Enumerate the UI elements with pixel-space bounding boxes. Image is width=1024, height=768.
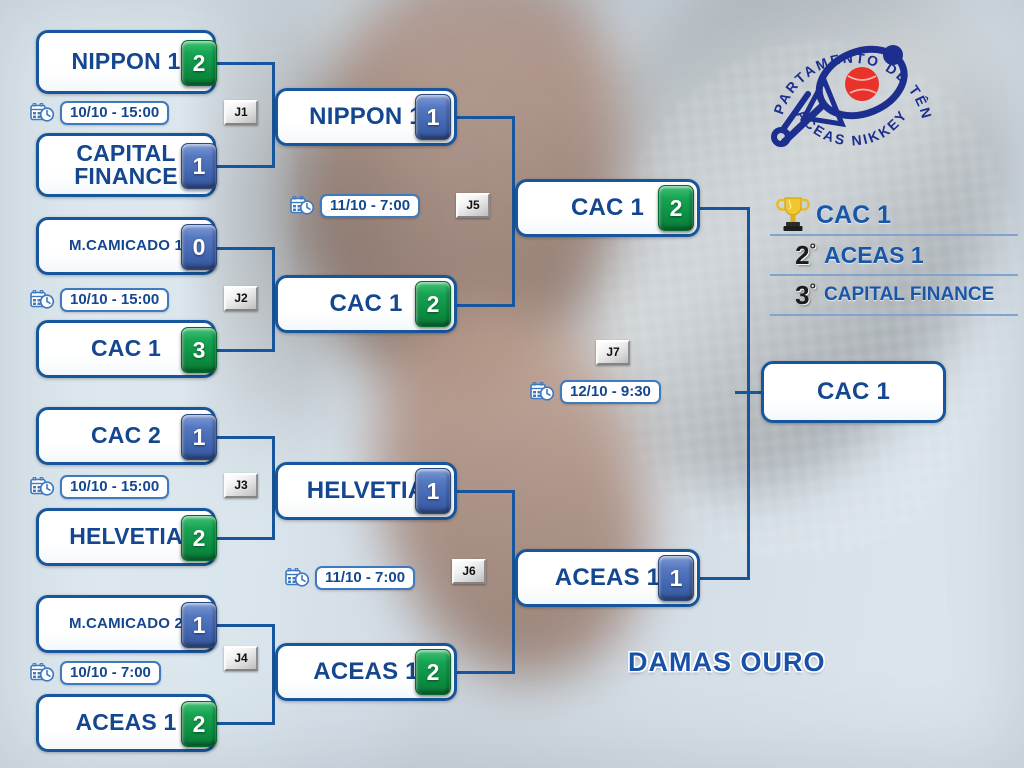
date-value: 10/10 - 15:00 <box>60 475 169 499</box>
club-logo: DEPARTAMENTO DE TÊNIS ACEAS NIKKEY <box>762 6 942 186</box>
score-value: 3 <box>193 337 206 364</box>
calendar-clock-icon <box>30 663 56 683</box>
team-name: HELVETIA <box>303 479 430 503</box>
score-value: 2 <box>193 50 206 77</box>
connector <box>455 490 515 493</box>
score-value: 1 <box>427 104 440 131</box>
match-code: J4 <box>234 651 247 665</box>
connector <box>213 624 275 627</box>
score-chip: 2 <box>415 649 451 695</box>
match-code: J5 <box>466 198 479 212</box>
team-name: ACEAS 1 <box>309 660 422 684</box>
score-chip: 2 <box>415 281 451 327</box>
score-value: 1 <box>670 565 683 592</box>
connector <box>213 349 275 352</box>
champion-box[interactable]: CAC 1 <box>761 361 946 423</box>
score-chip: 1 <box>658 555 694 601</box>
score-value: 1 <box>193 612 206 639</box>
date-value: 10/10 - 15:00 <box>60 288 169 312</box>
match-date: 12/10 - 9:30 <box>530 380 661 404</box>
score-chip: 1 <box>181 414 217 460</box>
team-name: NIPPON 1 <box>68 50 185 73</box>
score-value: 2 <box>193 711 206 738</box>
score-value: 0 <box>193 234 206 261</box>
match-date: 10/10 - 15:00 <box>30 475 169 499</box>
date-value: 10/10 - 7:00 <box>60 661 161 685</box>
date-value: 11/10 - 7:00 <box>315 566 415 590</box>
match-code: J2 <box>234 291 247 305</box>
match-code-button[interactable]: J7 <box>596 340 630 365</box>
podium-position: 2° <box>770 240 824 271</box>
connector <box>213 165 275 168</box>
score-value: 2 <box>427 659 440 686</box>
score-value: 1 <box>427 478 440 505</box>
score-value: 1 <box>193 153 206 180</box>
team-name: CAC 1 <box>87 337 165 360</box>
team-name: ACEAS 1 <box>71 711 180 734</box>
podium-row: CAC 1 <box>770 196 1018 236</box>
podium-team: CAC 1 <box>816 201 891 230</box>
team-name: CAC 1 <box>325 292 406 316</box>
score-chip: 1 <box>415 468 451 514</box>
score-chip: 2 <box>181 701 217 747</box>
calendar-clock-icon <box>285 568 311 588</box>
score-value: 1 <box>193 424 206 451</box>
bracket-canvas: NIPPON 1 2 10/10 - 15:00 J1 CAPITAL FINA… <box>0 0 1024 768</box>
team-name: CAC 2 <box>87 424 165 447</box>
match-code: J7 <box>606 345 619 359</box>
match-code-button[interactable]: J5 <box>456 193 490 218</box>
team-name: NIPPON 1 <box>305 105 427 129</box>
connector <box>213 537 275 540</box>
trophy-icon <box>770 194 816 236</box>
connector <box>455 116 515 119</box>
match-date: 10/10 - 15:00 <box>30 288 169 312</box>
calendar-clock-icon <box>530 382 556 402</box>
match-code-button[interactable]: J3 <box>224 473 258 498</box>
team-name: CAC 1 <box>567 196 648 220</box>
team-name: M.CAMICADO 2 <box>65 616 187 631</box>
calendar-clock-icon <box>290 196 316 216</box>
score-chip: 2 <box>181 40 217 86</box>
date-value: 12/10 - 9:30 <box>560 380 661 404</box>
calendar-clock-icon <box>30 477 56 497</box>
connector <box>455 304 515 307</box>
match-code: J1 <box>234 105 247 119</box>
match-date: 10/10 - 15:00 <box>30 101 169 125</box>
team-name: M.CAMICADO 1 <box>65 238 187 253</box>
podium-team: CAPITAL FINANCE <box>824 284 994 306</box>
match-date: 11/10 - 7:00 <box>290 194 420 218</box>
date-value: 11/10 - 7:00 <box>320 194 420 218</box>
match-date: 10/10 - 7:00 <box>30 661 161 685</box>
score-value: 2 <box>193 525 206 552</box>
team-name: ACEAS 1 <box>551 566 664 590</box>
logo-top-text: DEPARTAMENTO DE TÊNIS <box>762 6 936 122</box>
connector <box>213 436 275 439</box>
date-value: 10/10 - 15:00 <box>60 101 169 125</box>
score-chip: 1 <box>415 94 451 140</box>
calendar-clock-icon <box>30 290 56 310</box>
score-chip: 2 <box>181 515 217 561</box>
connector <box>213 247 275 250</box>
podium-row: 2° ACEAS 1 <box>770 236 1018 276</box>
score-chip: 0 <box>181 224 217 270</box>
score-chip: 1 <box>181 143 217 189</box>
score-value: 2 <box>427 291 440 318</box>
podium-team: ACEAS 1 <box>824 242 924 269</box>
connector <box>698 577 750 580</box>
connector <box>213 722 275 725</box>
match-code-button[interactable]: J2 <box>224 286 258 311</box>
podium-ranking: CAC 1 2° ACEAS 1 3° CAPITAL FINANCE <box>770 196 1018 316</box>
match-code-button[interactable]: J4 <box>224 646 258 671</box>
svg-text:DEPARTAMENTO DE TÊNIS: DEPARTAMENTO DE TÊNIS <box>762 6 936 122</box>
podium-row: 3° CAPITAL FINANCE <box>770 276 1018 316</box>
score-chip: 2 <box>658 185 694 231</box>
page-title: DAMAS OURO <box>628 647 826 678</box>
match-code-button[interactable]: J1 <box>224 100 258 125</box>
match-code: J6 <box>462 564 475 578</box>
podium-position: 3° <box>770 280 824 311</box>
team-name: HELVETIA <box>65 525 187 548</box>
connector <box>698 207 750 210</box>
calendar-clock-icon <box>30 103 56 123</box>
match-date: 11/10 - 7:00 <box>285 566 415 590</box>
score-chip: 3 <box>181 327 217 373</box>
score-value: 2 <box>670 195 683 222</box>
connector <box>455 671 515 674</box>
connector <box>213 62 275 65</box>
champion-name: CAC 1 <box>813 380 894 404</box>
score-chip: 1 <box>181 602 217 648</box>
match-code: J3 <box>234 478 247 492</box>
match-code-button[interactable]: J6 <box>452 559 486 584</box>
